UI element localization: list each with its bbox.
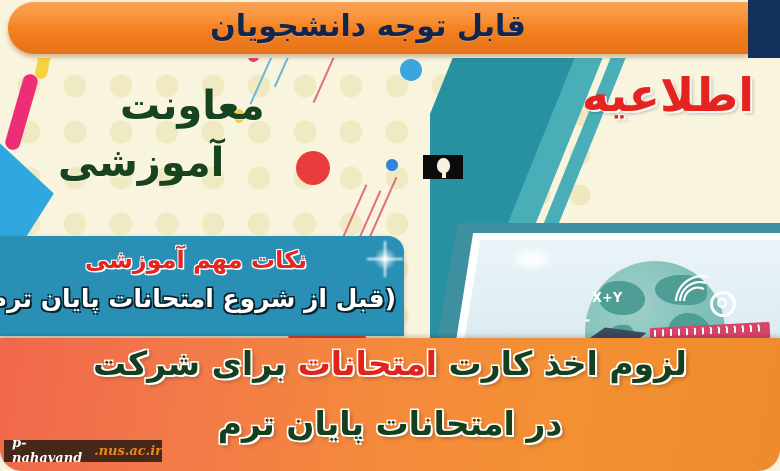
speech-bubble-icon [423, 155, 463, 179]
main-message-line1-part2: امتحانات [298, 344, 437, 383]
navy-accent-strip [748, 0, 780, 58]
important-notes-subtitle: (قبل از شروع امتحانات پایان ترم) [0, 284, 396, 313]
main-message-line2: در امتحانات پایان ترم [0, 404, 780, 443]
gear-icon [710, 291, 736, 317]
announcement-heading: اطلاعیه [582, 68, 754, 122]
main-message-line1-part1: لزوم اخذ کارت [448, 344, 687, 383]
announcement-poster: X+Y - * + ? [0, 0, 780, 471]
decor-blue-dot-small [386, 159, 398, 171]
department-heading-line1: معاونت [120, 83, 265, 129]
wifi-signal-icon [672, 273, 712, 305]
main-message-line1: لزوم اخذ کارت امتحانات برای شرکت [0, 344, 780, 383]
equation-text: X+Y [592, 291, 622, 306]
site-watermark: p-nahavand.nus.ac.ir [4, 440, 162, 462]
top-banner-title: قابل توجه دانشجویان [0, 0, 736, 52]
department-heading-line2: آموزشی [58, 140, 224, 186]
decor-blue-dot-medium [400, 59, 422, 81]
decor-red-circle [296, 151, 330, 185]
whiteboard-glare [515, 251, 549, 267]
important-notes-title: نکات مهم آموزشی [0, 246, 392, 274]
watermark-domain: .nus.ac.ir [94, 444, 162, 459]
top-banner: قابل توجه دانشجویان [0, 0, 780, 58]
minus-symbol: - [584, 311, 590, 329]
main-message-line1-part3: برای شرکت [93, 344, 286, 383]
watermark-name: p-nahavand [12, 436, 94, 466]
